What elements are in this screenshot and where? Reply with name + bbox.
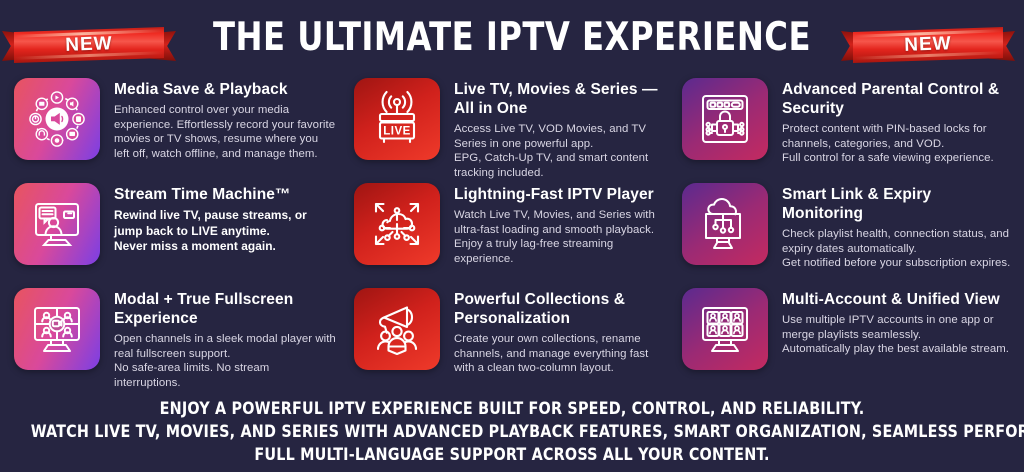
feature-title: Media Save & Playback — [114, 80, 336, 99]
feature-description: Open channels in a sleek modal player wi… — [114, 332, 336, 390]
feature-title: Live TV, Movies & Series — All in One — [454, 80, 666, 118]
feature-title: Powerful Collections & Personalization — [454, 290, 666, 328]
feature-description: Protect content with PIN-based locks for… — [782, 122, 1014, 166]
feature-description: Create your own collections, rename chan… — [454, 332, 666, 376]
feature-card[interactable]: Media Save & Playback Enhanced control o… — [0, 74, 346, 179]
feature-text: Live TV, Movies & Series — All in One Ac… — [440, 78, 666, 180]
footer-line-1: ENJOY A POWERFUL IPTV EXPERIENCE BUILT F… — [31, 398, 994, 421]
feature-card[interactable]: Smart Link & Expiry Monitoring Check pla… — [676, 179, 1024, 284]
fast-cloud-network-icon — [354, 183, 440, 265]
feature-text: Advanced Parental Control & Security Pro… — [768, 78, 1014, 166]
multi-account-grid-icon — [682, 288, 768, 370]
feature-description: Enhanced control over your media experie… — [114, 103, 336, 161]
feature-title: Lightning-Fast IPTV Player — [454, 185, 666, 204]
feature-card[interactable]: Lightning-Fast IPTV Player Watch Live TV… — [346, 179, 676, 284]
feature-description: Access Live TV, VOD Movies, and TV Serie… — [454, 122, 666, 180]
feature-card[interactable]: Modal + True Fullscreen Experience Open … — [0, 284, 346, 396]
cloud-monitor-link-icon — [682, 183, 768, 265]
media-save-playback-icon — [14, 78, 100, 160]
feature-grid: Media Save & Playback Enhanced control o… — [0, 74, 1024, 396]
parental-lock-browser-icon — [682, 78, 768, 160]
feature-text: Smart Link & Expiry Monitoring Check pla… — [768, 183, 1014, 271]
feature-text: Multi-Account & Unified View Use multipl… — [768, 288, 1014, 357]
footer-tagline: ENJOY A POWERFUL IPTV EXPERIENCE BUILT F… — [31, 398, 994, 467]
feature-description: Use multiple IPTV accounts in one app or… — [782, 313, 1014, 357]
feature-text: Media Save & Playback Enhanced control o… — [100, 78, 336, 161]
poster-header: NEW THE ULTIMATE IPTV EXPERIENCE NEW — [0, 0, 1024, 74]
feature-description: Check playlist health, connection status… — [782, 227, 1014, 271]
feature-text: Modal + True Fullscreen Experience Open … — [100, 288, 336, 390]
feature-text: Lightning-Fast IPTV Player Watch Live TV… — [440, 183, 666, 266]
feature-title: Advanced Parental Control & Security — [782, 80, 1014, 118]
feature-title: Modal + True Fullscreen Experience — [114, 290, 336, 328]
feature-card[interactable]: Advanced Parental Control & Security Pro… — [676, 74, 1024, 179]
feature-text: Powerful Collections & Personalization C… — [440, 288, 666, 376]
footer-line-3: FULL MULTI-LANGUAGE SUPPORT ACROSS ALL Y… — [31, 444, 994, 467]
live-tv-broadcast-icon: LIVE — [354, 78, 440, 160]
feature-card[interactable]: Stream Time Machine™ Rewind live TV, pau… — [0, 179, 346, 284]
feature-card[interactable]: LIVE Live TV, Movies & Series — All in O… — [346, 74, 676, 179]
megaphone-group-icon — [354, 288, 440, 370]
new-ribbon-right: NEW — [853, 23, 1003, 67]
multi-view-modal-icon — [14, 288, 100, 370]
stream-rewind-monitor-icon — [14, 183, 100, 265]
feature-card[interactable]: Multi-Account & Unified View Use multipl… — [676, 284, 1024, 396]
feature-description: Watch Live TV, Movies, and Series with u… — [454, 208, 666, 266]
ribbon-right-label: NEW — [852, 24, 1003, 65]
svg-text:LIVE: LIVE — [383, 126, 411, 138]
feature-title: Smart Link & Expiry Monitoring — [782, 185, 1014, 223]
iptv-feature-poster: NEW THE ULTIMATE IPTV EXPERIENCE NEW — [0, 0, 1024, 472]
feature-text: Stream Time Machine™ Rewind live TV, pau… — [100, 183, 336, 255]
feature-card[interactable]: Powerful Collections & Personalization C… — [346, 284, 676, 396]
feature-title: Stream Time Machine™ — [114, 185, 336, 204]
feature-description: Rewind live TV, pause streams, or jump b… — [114, 208, 336, 255]
feature-title: Multi-Account & Unified View — [782, 290, 1014, 309]
page-title: THE ULTIMATE IPTV EXPERIENCE — [41, 17, 983, 59]
footer-line-2: WATCH LIVE TV, MOVIES, AND SERIES WITH A… — [31, 421, 994, 444]
